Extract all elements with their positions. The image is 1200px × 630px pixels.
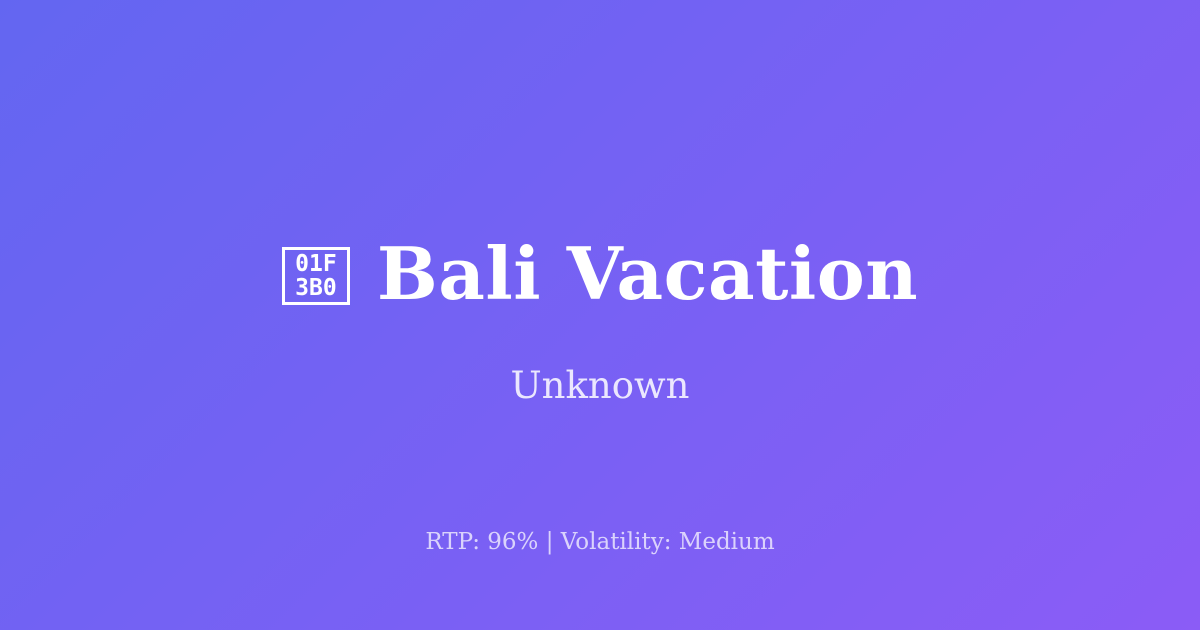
page-title: Bali Vacation [377,234,918,314]
emoji-codepoint-top: 01F [295,252,337,276]
subtitle: Unknown [0,362,1200,410]
slot-machine-emoji: 01F 3B0 [282,247,350,305]
title-row: 01F 3B0 Bali Vacation [0,232,1200,316]
emoji-codepoint-bottom: 3B0 [295,276,337,300]
og-preview-card: 01F 3B0 Bali Vacation Unknown RTP: 96% |… [0,0,1200,630]
game-stats-line: RTP: 96% | Volatility: Medium [0,526,1200,558]
